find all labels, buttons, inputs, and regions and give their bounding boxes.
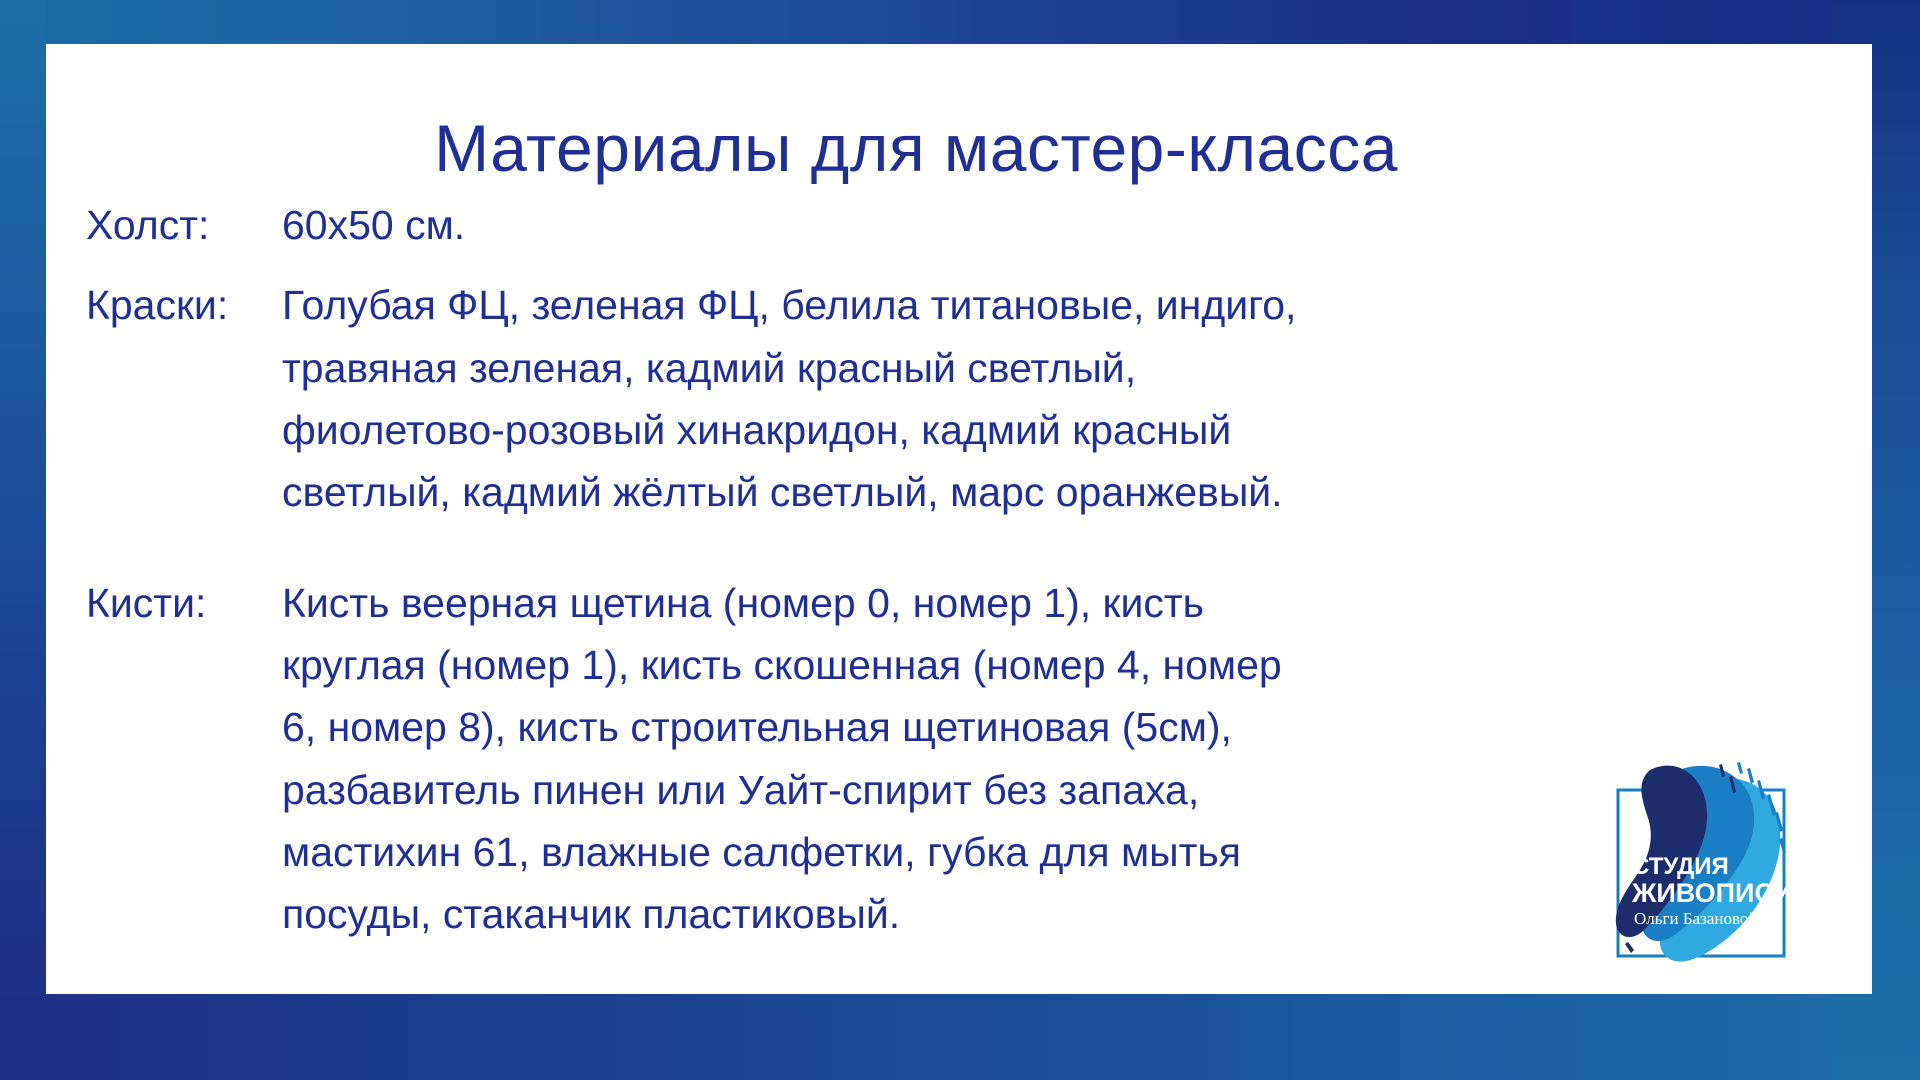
logo-text-line3: Ольги Базановой (1634, 909, 1758, 928)
material-label-paints: Краски: (86, 274, 282, 336)
logo-text-line1: СТУДИЯ (1632, 853, 1729, 880)
material-value-paints: Голубая ФЦ, зеленая ФЦ, белила титановые… (282, 274, 1786, 523)
material-line: 6, номер 8), кисть строительная щетинова… (282, 696, 1786, 758)
material-label-canvas: Холст: (86, 194, 282, 256)
material-line: травяная зеленая, кадмий красный светлый… (282, 337, 1786, 399)
slide-root: Материалы для мастер-класса Холст: 60x50… (0, 0, 1920, 1080)
materials-list: Холст: 60x50 см. Краски: Голубая ФЦ, зел… (86, 194, 1786, 945)
material-line: фиолетово-розовый хинакридон, кадмий кра… (282, 399, 1786, 461)
material-line: круглая (номер 1), кисть скошенная (номе… (282, 634, 1786, 696)
background-bottom-band (0, 994, 1920, 1080)
content-card: Материалы для мастер-класса Холст: 60x50… (46, 44, 1872, 994)
studio-logo: СТУДИЯ ЖИВОПИСИ Ольги Базановой (1604, 754, 1826, 972)
material-label-brushes: Кисти: (86, 572, 282, 634)
background-left-band (0, 0, 46, 1080)
studio-logo-artwork: СТУДИЯ ЖИВОПИСИ Ольги Базановой (1604, 754, 1826, 972)
material-row-brushes: Кисти: Кисть веерная щетина (номер 0, но… (86, 572, 1786, 946)
material-line: 60x50 см. (282, 194, 1786, 256)
material-value-brushes: Кисть веерная щетина (номер 0, номер 1),… (282, 572, 1786, 946)
background-top-right-band (1572, 0, 1832, 44)
material-line: светлый, кадмий жёлтый светлый, марс ора… (282, 461, 1786, 523)
material-line: Голубая ФЦ, зеленая ФЦ, белила титановые… (282, 274, 1786, 336)
material-line: разбавитель пинен или Уайт-спирит без за… (282, 759, 1786, 821)
page-title: Материалы для мастер-класса (46, 114, 1786, 183)
logo-text-line2: ЖИВОПИСИ (1631, 878, 1793, 908)
material-row-canvas: Холст: 60x50 см. (86, 194, 1786, 256)
material-line: посуды, стаканчик пластиковый. (282, 883, 1786, 945)
material-row-paints: Краски: Голубая ФЦ, зеленая ФЦ, белила т… (86, 274, 1786, 523)
material-line: Кисть веерная щетина (номер 0, номер 1),… (282, 572, 1786, 634)
material-line: мастихин 61, влажные салфетки, губка для… (282, 821, 1786, 883)
material-value-canvas: 60x50 см. (282, 194, 1786, 256)
